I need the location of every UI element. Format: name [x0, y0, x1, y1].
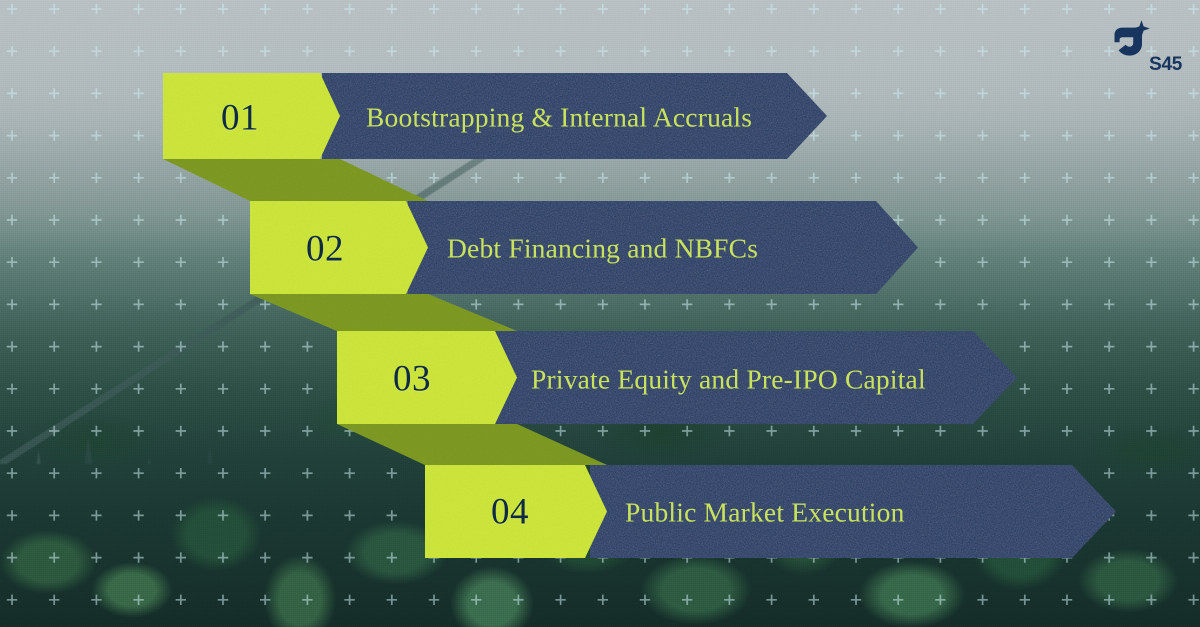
step-connector-3	[337, 424, 607, 465]
s45-sparkle-logo-icon	[1108, 18, 1154, 62]
step-label-03: Private Equity and Pre-IPO Capital	[531, 365, 926, 393]
step-label-01: Bootstrapping & Internal Accruals	[366, 103, 752, 131]
step-number-01: 01	[221, 100, 259, 137]
step-number-02: 02	[306, 231, 344, 268]
step-connector-1	[163, 159, 428, 201]
funnel-steps-graphic	[0, 0, 1200, 627]
step-connector-2	[250, 294, 517, 331]
step-label-04: Public Market Execution	[625, 498, 905, 526]
step-label-02: Debt Financing and NBFCs	[447, 234, 758, 262]
infographic-canvas: 01 Bootstrapping & Internal Accruals 02 …	[0, 0, 1200, 627]
brand-logo-text: S45	[1149, 55, 1182, 74]
step-number-04: 04	[491, 494, 529, 531]
step-number-03: 03	[393, 361, 431, 398]
brand-logo: S45	[1098, 18, 1184, 74]
